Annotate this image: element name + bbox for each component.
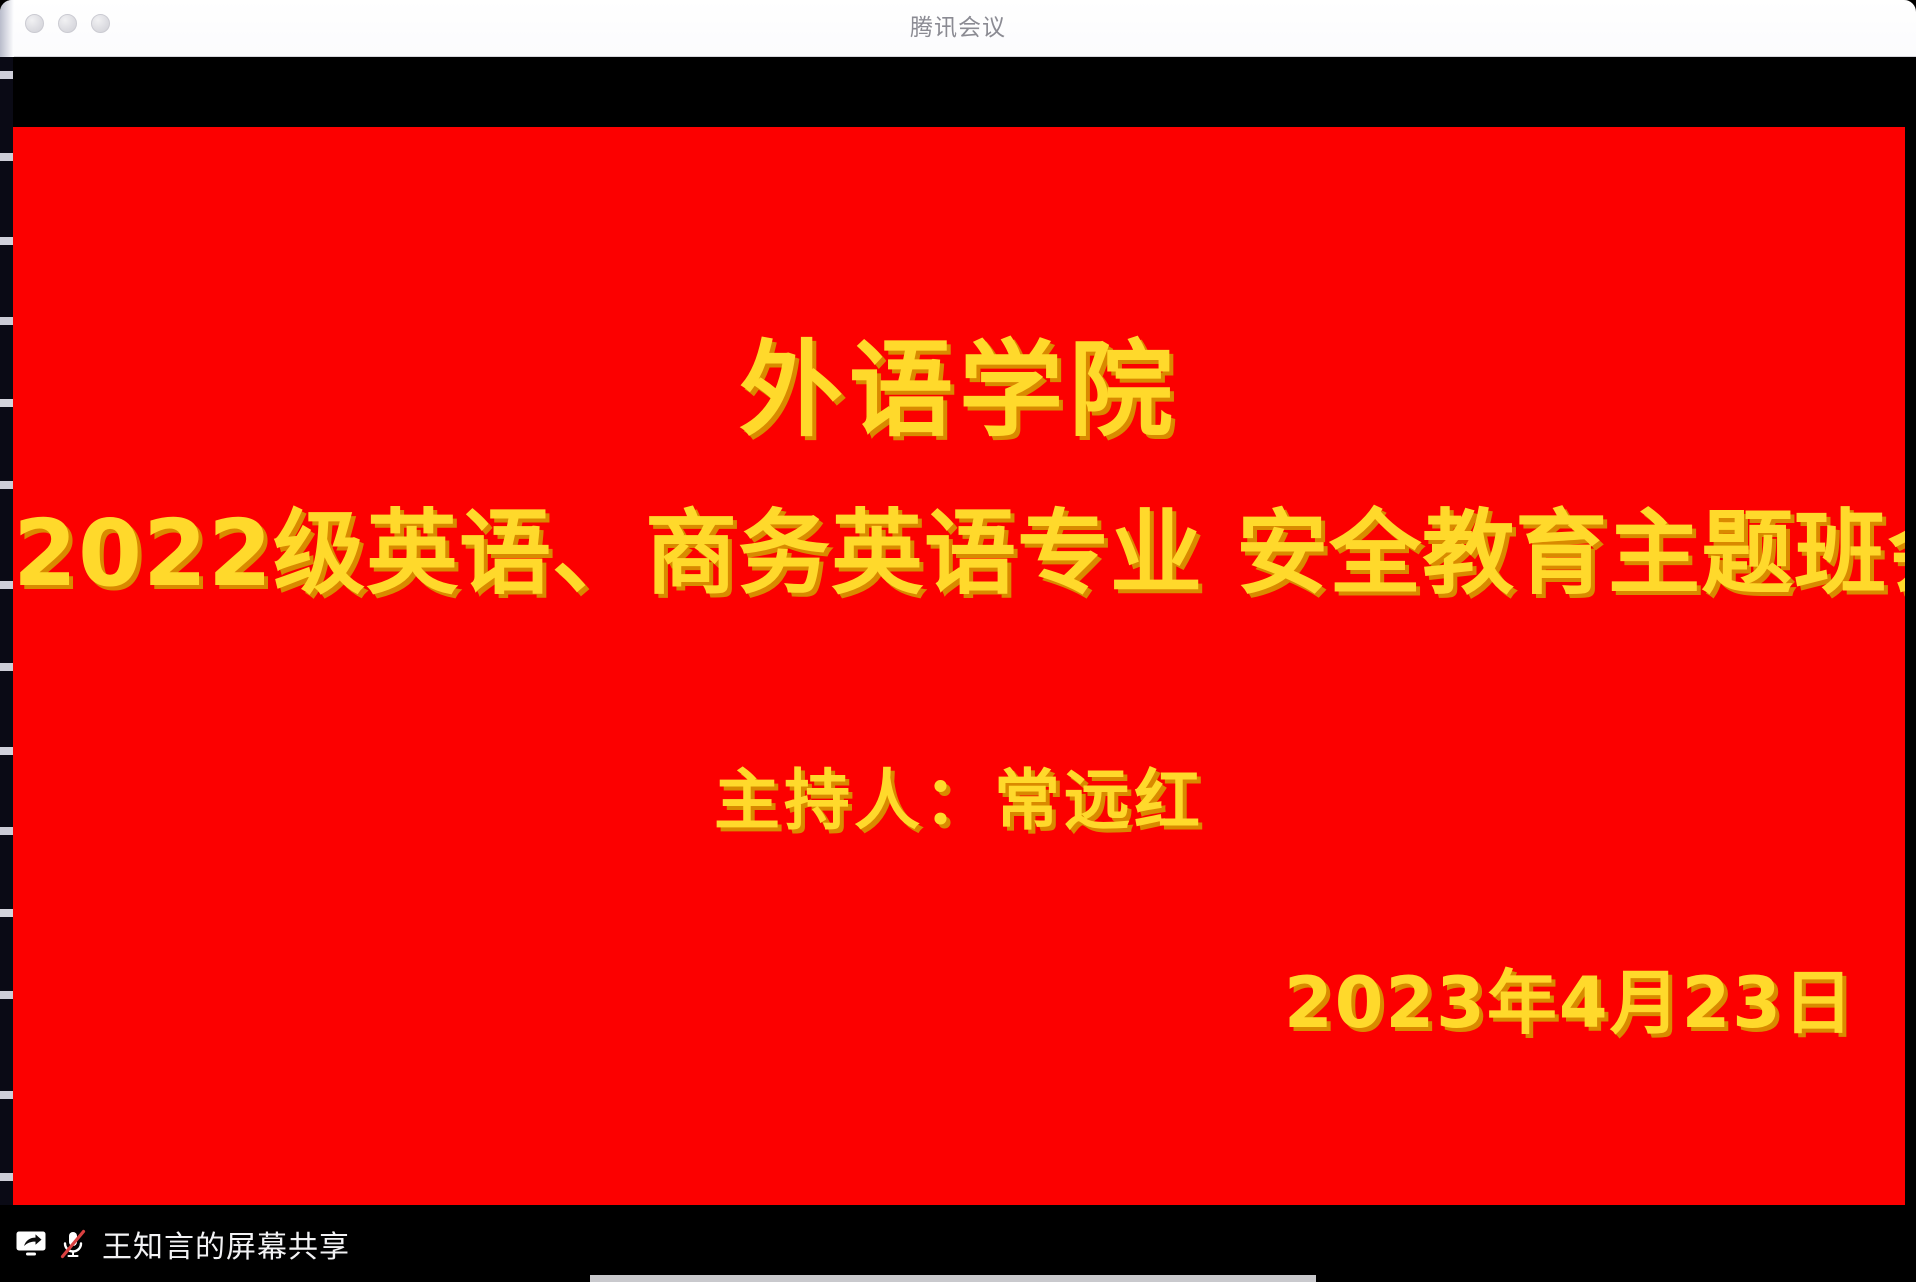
- window-title-bar[interactable]: 腾讯会议: [0, 0, 1916, 57]
- shared-screen-stage: 外语学院 2022级英语、商务英语专业 安全教育主题班会 主持人：常远红 202…: [0, 57, 1916, 1282]
- share-status-bar: 王知言的屏幕共享: [0, 1205, 1916, 1282]
- screen-share-icon: [16, 1231, 46, 1257]
- slide-host-line: 主持人：常远红: [13, 747, 1905, 843]
- microphone-muted-icon: [56, 1227, 90, 1261]
- maximize-button[interactable]: [91, 14, 110, 33]
- tencent-meeting-window: 腾讯会议 外语学院 2022级英语、商务英语专业 安全教育主题班会 主持人：常远…: [0, 0, 1916, 1282]
- slide-heading: 外语学院: [13, 305, 1905, 456]
- slide-subheading: 2022级英语、商务英语专业 安全教育主题班会: [13, 479, 1905, 612]
- slide-date: 2023年4月23日: [1284, 947, 1855, 1048]
- share-status-label: 王知言的屏幕共享: [102, 1222, 350, 1266]
- close-button[interactable]: [25, 14, 44, 33]
- share-border-indicator: [0, 57, 13, 1282]
- window-controls: [25, 14, 110, 33]
- presentation-slide: 外语学院 2022级英语、商务英语专业 安全教育主题班会 主持人：常远红 202…: [13, 127, 1905, 1205]
- window-title: 腾讯会议: [0, 0, 1916, 57]
- minimize-button[interactable]: [58, 14, 77, 33]
- desktop-taskbar-strip: [590, 1275, 1316, 1282]
